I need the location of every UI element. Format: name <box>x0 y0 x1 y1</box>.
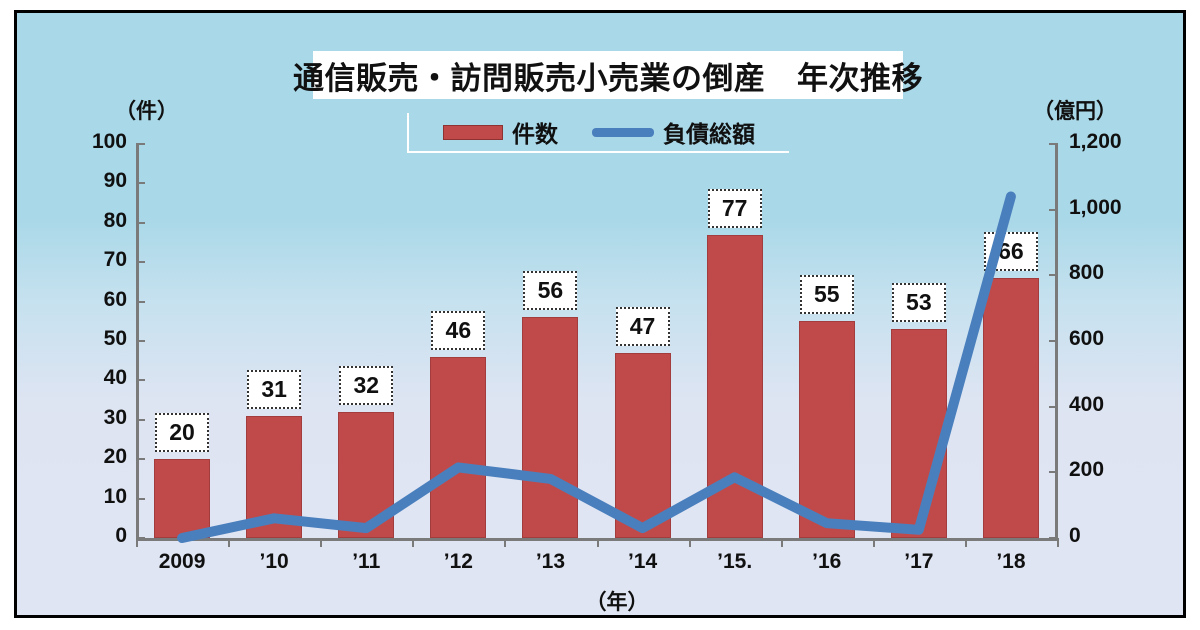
y-axis-left-tick <box>136 419 145 421</box>
legend-bar-swatch-icon <box>443 125 503 140</box>
chart-frame: 通信販売・訪問販売小売業の倒産 年次推移 件数 負債総額 （件） （億円） 01… <box>14 10 1186 618</box>
y-axis-right-tick-label: 400 <box>1069 393 1149 417</box>
x-axis-tick <box>412 538 414 547</box>
x-axis-tick <box>320 538 322 547</box>
bar-’18 <box>983 278 1039 538</box>
x-axis-tick <box>504 538 506 547</box>
x-axis-tick <box>781 538 783 547</box>
legend-item-line-series: 負債総額 <box>592 115 755 149</box>
y-axis-left-tick-label: 70 <box>69 248 127 272</box>
bar-’11 <box>338 412 394 538</box>
line-series-path <box>182 197 1011 539</box>
y-axis-left-tick <box>136 498 145 500</box>
x-axis-tick <box>228 538 230 547</box>
y-axis-left-tick-label: 90 <box>69 169 127 193</box>
left-axis-unit-label: （件） <box>115 95 178 125</box>
x-axis-tick <box>689 538 691 547</box>
bar-value-label: 47 <box>616 307 670 346</box>
x-axis-tick <box>873 538 875 547</box>
y-axis-left-tick-label: 60 <box>69 288 127 312</box>
bar-value-label: 56 <box>523 271 577 310</box>
y-axis-left-tick <box>136 301 145 303</box>
x-axis-category-label: ’12 <box>412 550 504 574</box>
y-axis-right-tick <box>1049 471 1058 473</box>
y-axis-left-tick <box>136 222 145 224</box>
bar-’16 <box>799 321 855 538</box>
bar-value-label: 53 <box>892 283 946 322</box>
y-axis-right-tick-label: 200 <box>1069 458 1149 482</box>
x-axis-category-label: ’11 <box>320 550 412 574</box>
legend-item-bar-series: 件数 <box>443 115 558 149</box>
bar-2009 <box>154 459 210 538</box>
bar-’12 <box>430 357 486 538</box>
bar-’17 <box>891 329 947 538</box>
y-axis-right-tick-label: 800 <box>1069 261 1149 285</box>
chart-page: 通信販売・訪問販売小売業の倒産 年次推移 件数 負債総額 （件） （億円） 01… <box>0 0 1200 630</box>
y-axis-left <box>136 144 139 541</box>
x-axis-category-label: ’18 <box>965 550 1057 574</box>
bar-value-label: 77 <box>708 189 762 228</box>
bar-value-label: 55 <box>800 275 854 314</box>
x-axis-tick <box>965 538 967 547</box>
bar-value-label: 66 <box>984 232 1038 271</box>
bar-value-label: 32 <box>339 366 393 405</box>
y-axis-left-tick-label: 0 <box>69 524 127 548</box>
y-axis-left-tick-label: 20 <box>69 445 127 469</box>
y-axis-left-tick <box>136 182 145 184</box>
y-axis-right-tick <box>1049 340 1058 342</box>
bar-’14 <box>615 353 671 538</box>
y-axis-left-tick-label: 10 <box>69 485 127 509</box>
x-axis-category-label: 2009 <box>136 550 228 574</box>
y-axis-right-tick <box>1049 143 1058 145</box>
y-axis-right-tick-label: 600 <box>1069 327 1149 351</box>
y-axis-right-tick-label: 1,000 <box>1069 196 1149 220</box>
y-axis-left-tick-label: 40 <box>69 366 127 390</box>
bar-’15. <box>707 235 763 538</box>
x-axis-tick <box>1057 538 1059 547</box>
y-axis-left-tick <box>136 458 145 460</box>
x-axis-category-label: ’15. <box>689 550 781 574</box>
x-axis-tick <box>597 538 599 547</box>
y-axis-right-tick-label: 0 <box>1069 524 1149 548</box>
bar-value-label: 46 <box>431 311 485 350</box>
x-axis-category-label: ’17 <box>873 550 965 574</box>
y-axis-right-tick <box>1049 209 1058 211</box>
y-axis-left-tick <box>136 340 145 342</box>
y-axis-left-tick-label: 100 <box>69 130 127 154</box>
bar-value-label: 20 <box>155 413 209 452</box>
y-axis-left-tick-label: 80 <box>69 209 127 233</box>
x-axis-category-label: ’10 <box>228 550 320 574</box>
x-axis-category-label: ’13 <box>504 550 596 574</box>
legend-line-swatch-icon <box>592 128 654 137</box>
page-title: 通信販売・訪問販売小売業の倒産 年次推移 <box>313 51 903 99</box>
y-axis-left-tick <box>136 261 145 263</box>
y-axis-right-tick <box>1049 274 1058 276</box>
y-axis-left-tick <box>136 143 145 145</box>
legend-label-line-series: 負債総額 <box>663 115 755 149</box>
y-axis-left-tick-label: 50 <box>69 327 127 351</box>
y-axis-right-tick <box>1049 406 1058 408</box>
bar-’13 <box>522 317 578 538</box>
bar-value-label: 31 <box>247 370 301 409</box>
x-axis-category-label: ’14 <box>597 550 689 574</box>
chart-legend: 件数 負債総額 <box>407 113 789 153</box>
x-axis-caption: （年） <box>17 586 1200 616</box>
y-axis-left-tick-label: 30 <box>69 406 127 430</box>
legend-label-bar-series: 件数 <box>512 115 558 149</box>
bar-’10 <box>246 416 302 538</box>
x-axis-tick <box>136 538 138 547</box>
y-axis-left-tick <box>136 379 145 381</box>
right-axis-unit-label: （億円） <box>1033 95 1117 125</box>
y-axis-right-tick-label: 1,200 <box>1069 130 1149 154</box>
y-axis-right <box>1055 144 1058 541</box>
x-axis-category-label: ’16 <box>781 550 873 574</box>
